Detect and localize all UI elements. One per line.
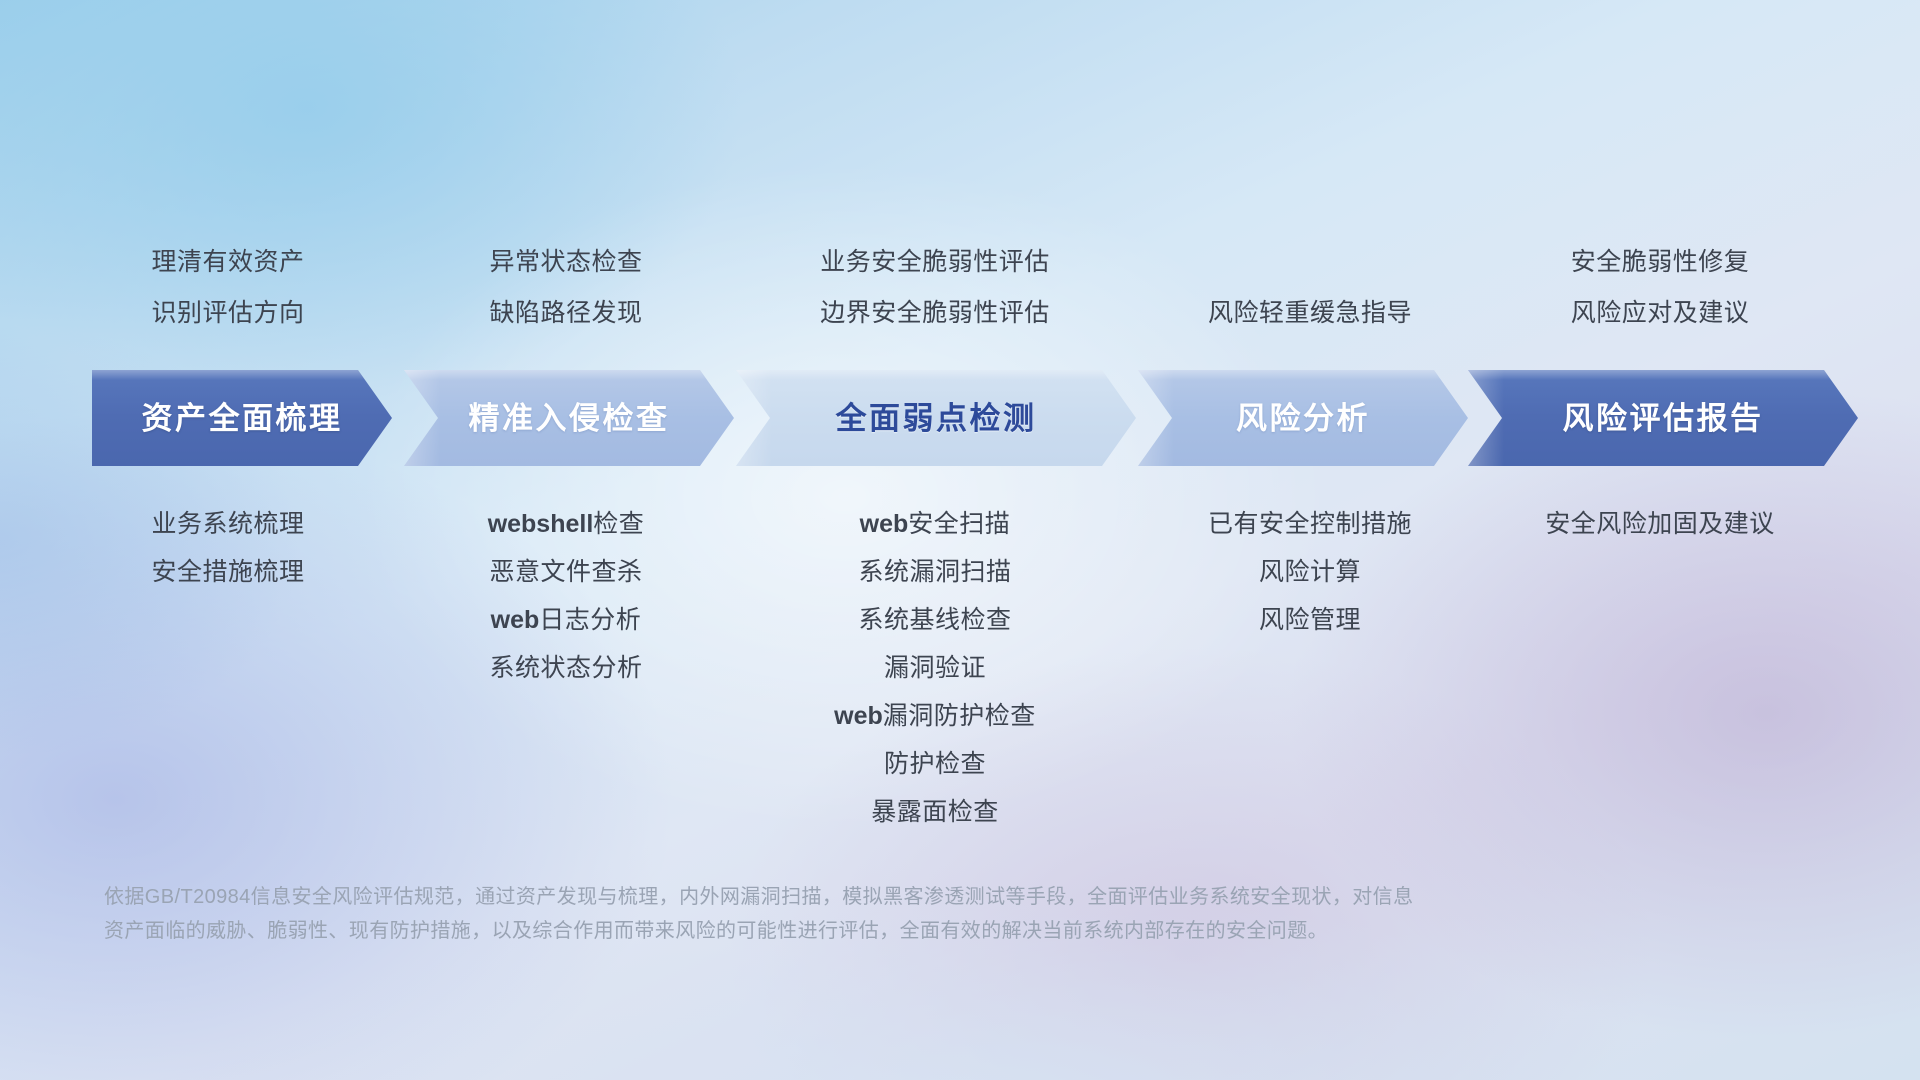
detail-item: 暴露面检查	[755, 800, 1115, 825]
detail-item: web日志分析	[416, 608, 716, 633]
detail-item: 系统状态分析	[416, 656, 716, 681]
process-stage-label: 风险评估报告	[1563, 403, 1764, 434]
top-label-item: 理清有效资产	[78, 250, 378, 275]
top-label-list: 理清有效资产识别评估方向	[78, 250, 378, 326]
detail-item-text: 日志分析	[539, 606, 641, 634]
detail-item: 风险计算	[1150, 560, 1470, 585]
chevron-sheen	[404, 370, 734, 380]
detail-list: 安全风险加固及建议	[1490, 512, 1830, 560]
detail-item: 系统漏洞扫描	[755, 560, 1115, 585]
top-label-list: 业务安全脆弱性评估边界安全脆弱性评估	[755, 250, 1115, 326]
top-label-item: 缺陷路径发现	[416, 301, 716, 326]
detail-item-latin: web	[834, 702, 883, 730]
footer-line-2: 资产面临的威胁、脆弱性、现有防护措施，以及综合作用而带来风险的可能性进行评估，全…	[104, 914, 1764, 948]
detail-item: 漏洞验证	[755, 656, 1115, 681]
process-stage-label: 资产全面梳理	[142, 403, 343, 434]
detail-item: 恶意文件查杀	[416, 560, 716, 585]
process-stage-asset-inventory[interactable]: 资产全面梳理	[92, 370, 392, 466]
detail-item-text: 安全扫描	[908, 510, 1010, 538]
chevron-left-notch-highlight	[404, 370, 440, 466]
top-label-item: 安全脆弱性修复	[1490, 250, 1830, 275]
top-label-item: 业务安全脆弱性评估	[755, 250, 1115, 275]
process-stage-label: 精准入侵检查	[469, 403, 670, 434]
top-label-list: 风险轻重缓急指导	[1150, 301, 1470, 326]
detail-item: 防护检查	[755, 752, 1115, 777]
detail-item-text: 检查	[593, 510, 644, 538]
process-stage-intrusion-check[interactable]: 精准入侵检查	[404, 370, 734, 466]
detail-item: 安全措施梳理	[78, 560, 378, 585]
detail-item: webshell检查	[416, 512, 716, 537]
chevron-sheen	[92, 370, 392, 380]
chevron-left-notch-highlight	[736, 370, 772, 466]
detail-item: web漏洞防护检查	[755, 704, 1115, 729]
top-label-group-intrusion-check: 异常状态检查缺陷路径发现	[416, 0, 716, 326]
chevron-sheen	[1468, 370, 1858, 380]
detail-item: 系统基线检查	[755, 608, 1115, 633]
detail-item: 已有安全控制措施	[1150, 512, 1470, 537]
top-label-group-risk-analysis: 风险轻重缓急指导	[1150, 0, 1470, 326]
top-label-item: 边界安全脆弱性评估	[755, 301, 1115, 326]
top-label-item: 风险应对及建议	[1490, 301, 1830, 326]
process-stage-label: 全面弱点检测	[836, 403, 1037, 434]
chevron-sheen	[1138, 370, 1468, 380]
top-label-group-assessment-report: 安全脆弱性修复风险应对及建议	[1490, 0, 1830, 326]
top-label-group-weakness-detection: 业务安全脆弱性评估边界安全脆弱性评估	[755, 0, 1115, 326]
chevron-sheen	[736, 370, 1136, 380]
top-label-item: 风险轻重缓急指导	[1150, 301, 1470, 326]
process-stage-risk-analysis[interactable]: 风险分析	[1138, 370, 1468, 466]
detail-item: 业务系统梳理	[78, 512, 378, 537]
top-label-list: 异常状态检查缺陷路径发现	[416, 250, 716, 326]
detail-item-latin: web	[491, 606, 540, 634]
detail-list: 已有安全控制措施风险计算风险管理	[1150, 512, 1470, 656]
process-stage-assessment-report[interactable]: 风险评估报告	[1468, 370, 1858, 466]
detail-item: web安全扫描	[755, 512, 1115, 537]
detail-list: web安全扫描系统漏洞扫描系统基线检查漏洞验证web漏洞防护检查防护检查暴露面检…	[755, 512, 1115, 848]
detail-list: 业务系统梳理安全措施梳理	[78, 512, 378, 608]
top-label-item: 识别评估方向	[78, 301, 378, 326]
footer-line-1: 依据GB/T20984信息安全风险评估规范，通过资产发现与梳理，内外网漏洞扫描，…	[104, 880, 1764, 914]
detail-item: 安全风险加固及建议	[1490, 512, 1830, 537]
chevron-left-notch-highlight	[1138, 370, 1174, 466]
chevron-left-notch-highlight	[1468, 370, 1504, 466]
top-label-group-asset-inventory: 理清有效资产识别评估方向	[78, 0, 378, 326]
process-chevron-band: 资产全面梳理精准入侵检查全面弱点检测风险分析风险评估报告	[0, 370, 1920, 466]
process-stage-label: 风险分析	[1236, 403, 1370, 434]
top-label-item: 异常状态检查	[416, 250, 716, 275]
footer-description: 依据GB/T20984信息安全风险评估规范，通过资产发现与梳理，内外网漏洞扫描，…	[104, 880, 1764, 948]
detail-item-latin: webshell	[488, 510, 594, 538]
detail-item-latin: web	[860, 510, 909, 538]
top-label-list: 安全脆弱性修复风险应对及建议	[1490, 250, 1830, 326]
process-stage-weakness-detection[interactable]: 全面弱点检测	[736, 370, 1136, 466]
detail-item-text: 漏洞防护检查	[883, 702, 1036, 730]
detail-list: webshell检查恶意文件查杀web日志分析系统状态分析	[416, 512, 716, 704]
detail-item: 风险管理	[1150, 608, 1470, 633]
